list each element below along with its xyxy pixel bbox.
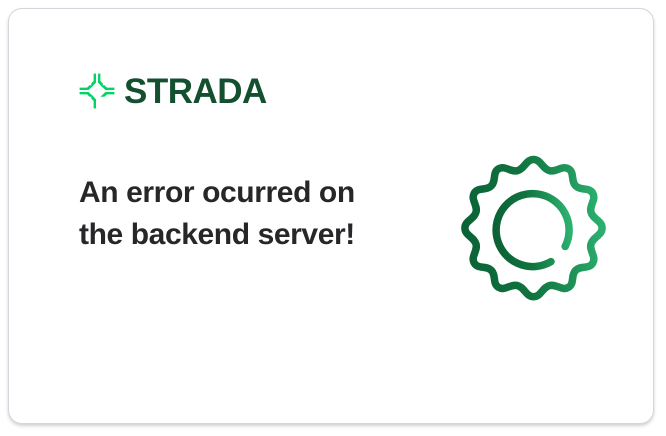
error-card: STRADA An error ocurred on the backend s… bbox=[8, 8, 654, 424]
strada-asterisk-icon bbox=[79, 73, 115, 109]
brand-logo: STRADA bbox=[79, 73, 267, 109]
brand-wordmark: STRADA bbox=[124, 74, 267, 109]
gear-icon bbox=[452, 148, 615, 311]
error-message: An error ocurred on the backend server! bbox=[79, 172, 369, 256]
